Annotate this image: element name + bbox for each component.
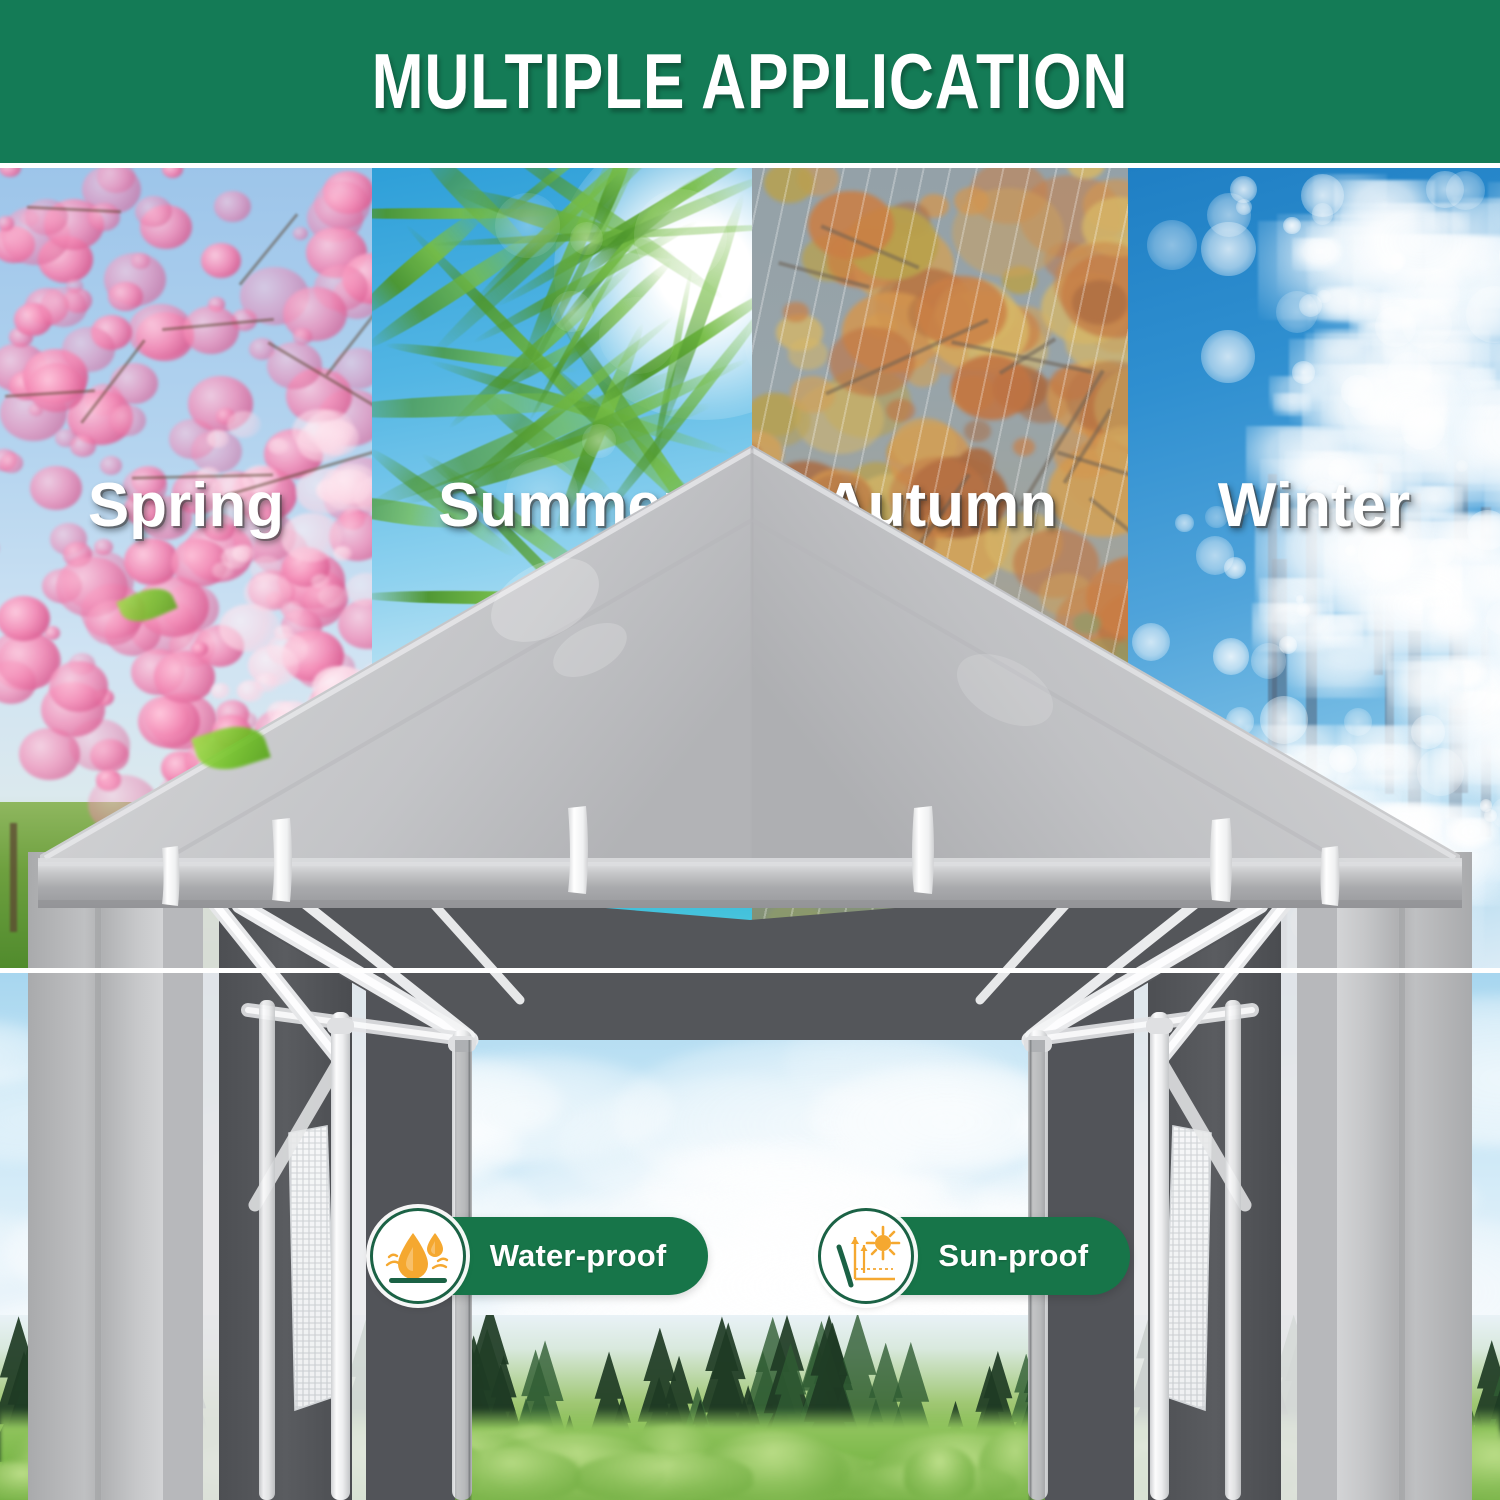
season-label-spring: Spring (0, 470, 372, 541)
lens-bokeh (560, 677, 605, 722)
snow-bokeh (1296, 595, 1305, 604)
badge-label-water-proof: Water-proof (490, 1238, 667, 1274)
season-panel-summer: Summer (372, 168, 752, 972)
blossom-pale (221, 547, 248, 569)
blossom-cluster (131, 253, 150, 269)
bush (904, 1445, 975, 1500)
bush (1128, 1441, 1300, 1500)
blossom-pale (237, 680, 264, 702)
snow-bokeh (1401, 407, 1444, 450)
snow-bokeh (1213, 638, 1250, 675)
blossom-cluster (135, 196, 172, 227)
bush (443, 1447, 581, 1500)
blossom-pale (317, 688, 372, 736)
badge-label-sun-proof: Sun-proof (938, 1238, 1088, 1274)
blossom-cluster (62, 327, 115, 372)
frosted-branch (1314, 329, 1370, 362)
snow-bokeh (1172, 799, 1200, 827)
product-marketing-image: MULTIPLE APPLICATION Spring Summer Autum… (0, 0, 1500, 1500)
blossom-pale (318, 585, 347, 608)
blossom-pale (227, 411, 261, 438)
blossom-cluster (283, 287, 347, 342)
snow-bokeh (1297, 603, 1311, 617)
badge-water-proof[interactable]: Water-proof (370, 1208, 709, 1304)
header-banner: MULTIPLE APPLICATION (0, 0, 1500, 163)
frosted-branch (1291, 784, 1339, 813)
blossom-pale (192, 770, 251, 817)
header-divider (0, 163, 1500, 168)
snow-bokeh (1224, 557, 1246, 579)
blossom-cluster (293, 328, 313, 345)
tree-trunk (10, 823, 17, 932)
season-panel-spring: Spring (0, 168, 372, 972)
snow-bokeh (1303, 894, 1315, 906)
snow-bokeh (1375, 828, 1396, 849)
season-label-summer: Summer (372, 470, 752, 541)
snow-bokeh (1426, 171, 1464, 209)
tree-trunk (324, 809, 333, 951)
blossom-cluster (201, 243, 242, 277)
season-label-autumn: Autumn (752, 470, 1128, 541)
frosted-branch (1388, 661, 1464, 706)
water-droplet-icon (370, 1208, 466, 1304)
pine-forest (0, 1315, 1500, 1500)
lens-bokeh (582, 424, 616, 458)
bush (1034, 1449, 1146, 1500)
snow-bokeh (1417, 748, 1465, 796)
blossom-cluster (109, 405, 146, 436)
season-panel-winter: Winter (1128, 168, 1500, 972)
blossom-pale (333, 546, 352, 561)
lens-bokeh (581, 591, 660, 670)
frosted-branch (1362, 802, 1446, 852)
blossom-pale (207, 430, 229, 447)
blossom-pale (254, 786, 309, 830)
frosted-branch (1351, 744, 1428, 790)
snow-bokeh (1427, 538, 1455, 566)
snow-bokeh (1266, 807, 1303, 844)
snow-bokeh (1409, 893, 1441, 925)
feature-badges: Water-proof (0, 1196, 1500, 1316)
blossom-cluster (108, 282, 143, 311)
frosted-branch (1442, 818, 1500, 853)
rain-streaks-icon (752, 168, 1128, 972)
blossom-pale (269, 713, 303, 740)
snow-bokeh (1201, 330, 1254, 383)
snow-bokeh (1147, 220, 1197, 270)
lens-bokeh (634, 189, 727, 282)
bush (574, 1452, 753, 1500)
snow-bokeh (1276, 291, 1318, 333)
snow-bokeh (1292, 361, 1314, 383)
lens-bokeh (599, 297, 676, 374)
cloud (224, 1019, 409, 1089)
season-panel-autumn: Autumn (752, 168, 1128, 972)
snow-bokeh (1341, 375, 1374, 408)
blossom-cluster (49, 661, 108, 711)
blossom-cluster (314, 181, 370, 229)
frosted-branch (1292, 238, 1346, 270)
snow-bokeh (1305, 852, 1343, 890)
snow-bokeh (1411, 715, 1445, 749)
blossom-pale (219, 604, 280, 653)
blossom-cluster (70, 435, 95, 457)
blossom-cluster (94, 539, 113, 555)
snow-bokeh (1290, 902, 1329, 941)
spring-grass (0, 802, 372, 972)
badge-sun-proof[interactable]: Sun-proof (818, 1208, 1130, 1304)
blossom-cluster (183, 306, 239, 354)
blossom-cluster (0, 216, 14, 231)
season-label-winter: Winter (1128, 470, 1500, 541)
summer-sea (372, 808, 752, 972)
lens-bokeh (551, 291, 592, 332)
snow-bokeh (1273, 753, 1297, 777)
snow-bokeh (1480, 799, 1492, 811)
blossom-cluster (88, 775, 158, 835)
sun-uv-deflect-icon (818, 1208, 914, 1304)
snow-bokeh (1344, 708, 1372, 736)
seasons-strip: Spring Summer Autumn Winter (0, 168, 1500, 972)
page-title: MULTIPLE APPLICATION (372, 36, 1129, 127)
snow-bokeh (1418, 275, 1459, 316)
blossom-cluster (267, 342, 322, 389)
blossom-cluster (88, 203, 120, 231)
scene-divider (0, 968, 1500, 973)
blossom-cluster (28, 363, 86, 412)
